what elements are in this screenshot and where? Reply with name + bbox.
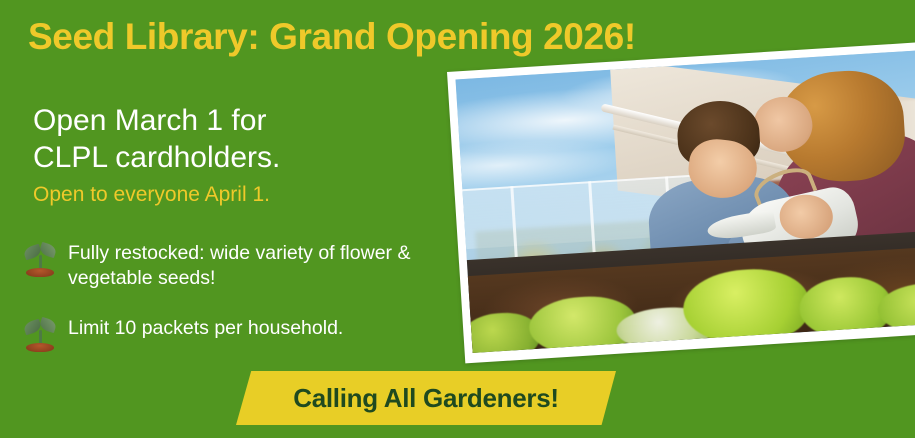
gardening-photo [455, 49, 915, 353]
subheading-line-1: Open March 1 for [33, 103, 280, 140]
gardening-photo-frame [447, 41, 915, 364]
seedling-icon [20, 315, 60, 355]
subheading: Open March 1 for CLPL cardholders. [33, 103, 280, 176]
list-item: Fully restocked: wide variety of flower … [20, 238, 440, 291]
banner-label: Calling All Gardeners! [236, 371, 616, 425]
seedling-soil [26, 268, 54, 277]
open-to-everyone-note: Open to everyone April 1. [33, 183, 270, 207]
details-list: Fully restocked: wide variety of flower … [20, 238, 440, 377]
list-item: Limit 10 packets per household. [20, 313, 440, 355]
list-item-label: Fully restocked: wide variety of flower … [68, 238, 440, 291]
page-title: Seed Library: Grand Opening 2026! [28, 16, 636, 59]
subheading-line-2: CLPL cardholders. [33, 140, 280, 177]
seedling-icon [20, 240, 60, 280]
seed-library-promo-poster: Seed Library: Grand Opening 2026! Open M… [0, 0, 915, 438]
seedling-soil [26, 343, 54, 352]
list-item-label: Limit 10 packets per household. [68, 313, 343, 341]
calling-all-gardeners-banner[interactable]: Calling All Gardeners! [236, 371, 616, 425]
